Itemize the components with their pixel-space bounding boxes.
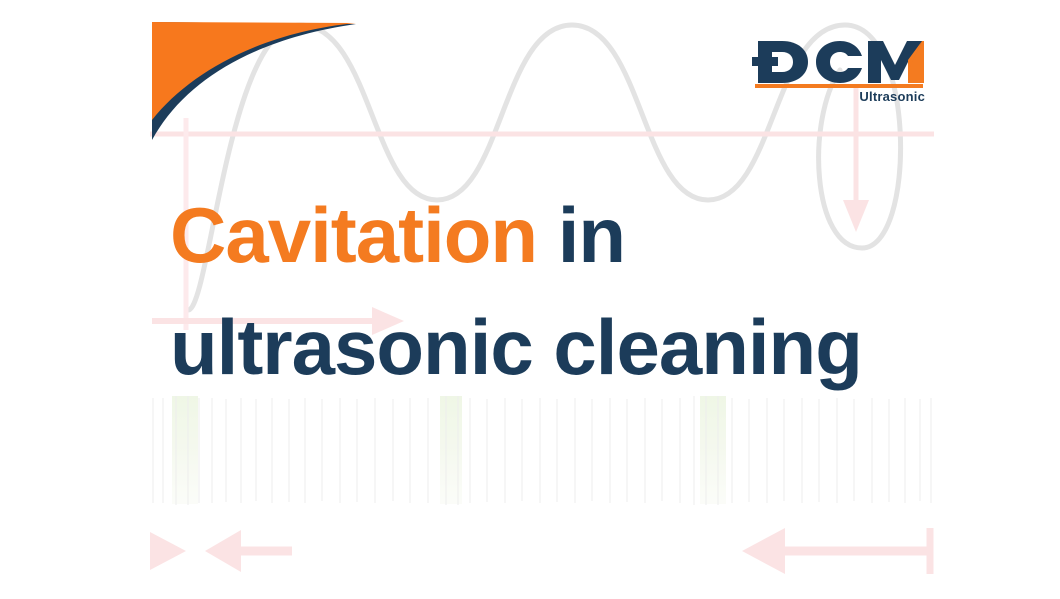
- bottom-dimension-arrow-head: [742, 528, 785, 574]
- dcm-logo: Ultrasonic: [752, 38, 927, 106]
- title-word-in: in: [558, 191, 625, 279]
- title-line-2: ultrasonic cleaning: [170, 308, 970, 386]
- title-word-in-spacer: [537, 191, 558, 279]
- bottom-right-triangle: [150, 532, 186, 570]
- title-word-cavitation: Cavitation: [170, 191, 537, 279]
- slide-canvas: Ultrasonic Cavitation in ultrasonic clea…: [0, 0, 1060, 599]
- bottom-left-arrow-head: [205, 530, 241, 572]
- logo-subtitle: Ultrasonic: [859, 90, 925, 103]
- title-line-1: Cavitation in: [170, 196, 970, 274]
- logo-orange-rule: [755, 84, 923, 88]
- title-block: Cavitation in ultrasonic cleaning: [170, 196, 970, 386]
- dcm-wordmark-icon: [752, 38, 927, 86]
